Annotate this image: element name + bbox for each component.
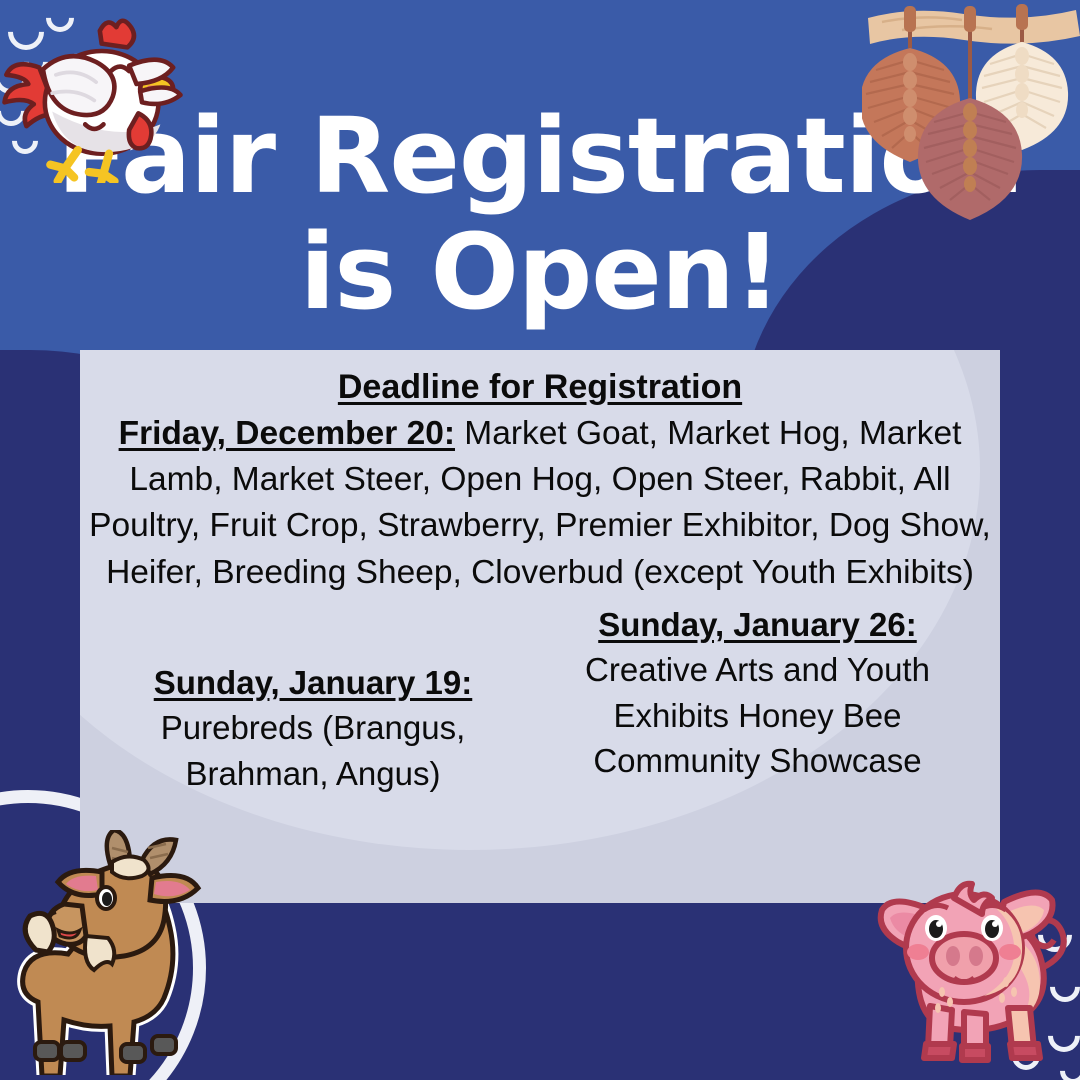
friday-deadline-block: Friday, December 20: Market Goat, Market… (80, 411, 1000, 596)
deadline-columns: Sunday, January 19: Purebreds (Brangus, … (80, 602, 1000, 852)
friday-label: Friday, December 20: (119, 415, 455, 452)
january-26-items: Creative Arts and Youth Exhibits Honey B… (585, 651, 930, 779)
january-26-label: Sunday, January 26: (535, 602, 980, 648)
goat-icon (6, 830, 221, 1075)
january-19-block: Sunday, January 19: Purebreds (Brangus, … (98, 660, 528, 797)
registration-info-panel: Deadline for Registration Friday, Decemb… (80, 350, 1000, 903)
chicken-icon (0, 18, 185, 183)
fair-registration-poster: Fair Registration is Open! Deadline for … (0, 0, 1080, 1080)
title-line-2: is Open! (0, 214, 1080, 330)
hanging-feathers-icon (862, 0, 1080, 222)
january-26-block: Sunday, January 26: Creative Arts and Yo… (535, 602, 980, 784)
january-19-items: Purebreds (Brangus, Brahman, Angus) (161, 709, 466, 792)
deadline-heading: Deadline for Registration (80, 368, 1000, 407)
pig-icon (856, 866, 1070, 1072)
january-19-label: Sunday, January 19: (98, 660, 528, 706)
